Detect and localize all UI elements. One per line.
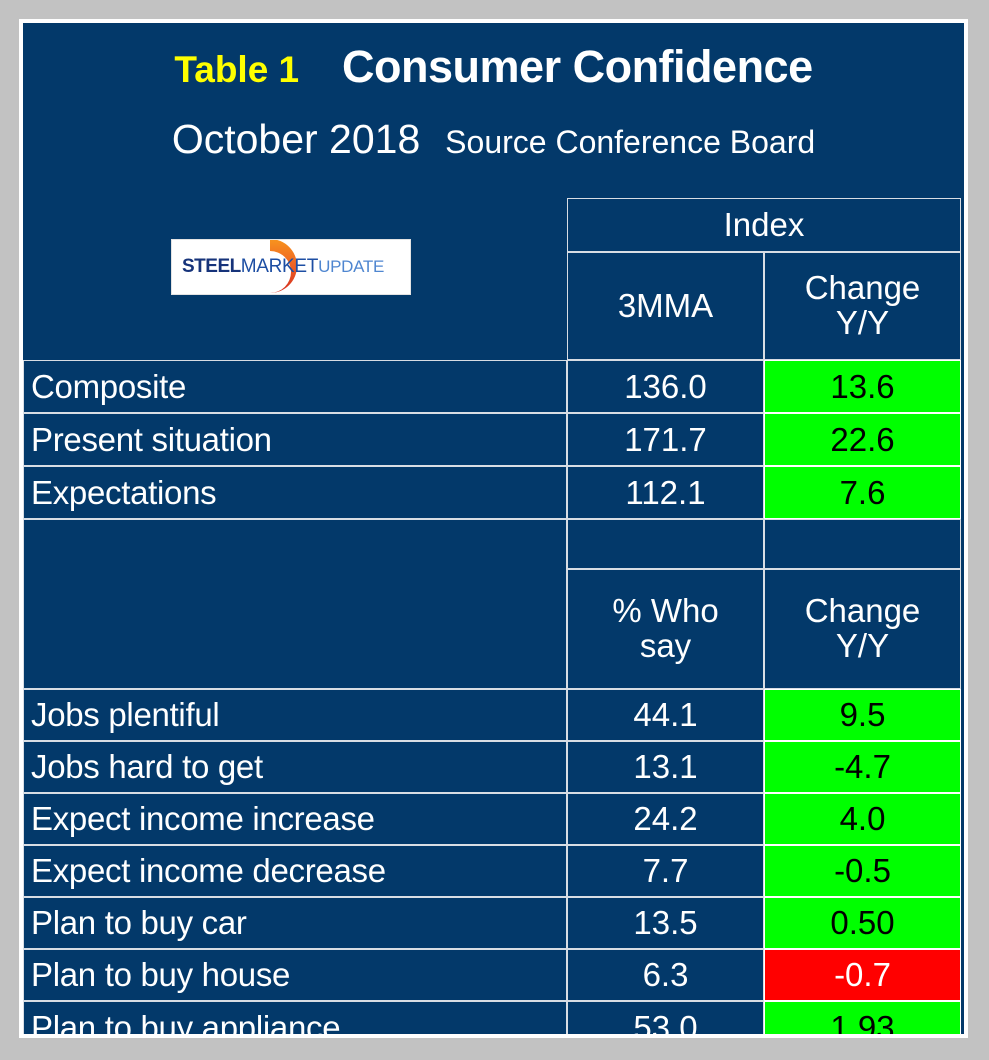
table-cell-change: -0.7 bbox=[764, 949, 961, 1001]
table-row-label: Plan to buy appliance bbox=[23, 1001, 567, 1034]
section-divider-left bbox=[23, 519, 567, 689]
table-row-label: Expect income decrease bbox=[23, 845, 567, 897]
data-grid: Index 3MMA Change Y/Y Composite 136.0 bbox=[23, 178, 964, 1034]
report-date-label: October 2018 bbox=[172, 116, 420, 162]
page-title: Consumer Confidence bbox=[342, 41, 813, 92]
table-row-label: Expect income increase bbox=[23, 793, 567, 845]
title-block: Table 1 Consumer Confidence October 2018… bbox=[23, 23, 964, 183]
table-cell-value: 171.7 bbox=[567, 413, 764, 466]
title-line-secondary: October 2018 Source Conference Board bbox=[23, 116, 964, 163]
table-cell-value: 53.0 bbox=[567, 1001, 764, 1034]
table-panel: Table 1 Consumer Confidence October 2018… bbox=[23, 23, 964, 1034]
table-row-label: Plan to buy car bbox=[23, 897, 567, 949]
table-cell-value: 136.0 bbox=[567, 360, 764, 413]
table-row-label: Expectations bbox=[23, 466, 567, 519]
table-cell-value: 24.2 bbox=[567, 793, 764, 845]
table-row-label: Composite bbox=[23, 360, 567, 413]
table-number-label: Table 1 bbox=[174, 49, 299, 90]
header-col-change-index: Change Y/Y bbox=[764, 252, 961, 360]
header-group-index: Index bbox=[567, 198, 961, 252]
table-row-label: Jobs hard to get bbox=[23, 741, 567, 793]
table-row-label: Jobs plentiful bbox=[23, 689, 567, 741]
header-col-change-percent: Change Y/Y bbox=[764, 569, 961, 689]
table-outer-frame: Table 1 Consumer Confidence October 2018… bbox=[19, 19, 968, 1038]
table-cell-value: 44.1 bbox=[567, 689, 764, 741]
table-cell-value: 7.7 bbox=[567, 845, 764, 897]
table-cell-value: 6.3 bbox=[567, 949, 764, 1001]
table-cell-value: 13.5 bbox=[567, 897, 764, 949]
screenshot-root: Table 1 Consumer Confidence October 2018… bbox=[0, 0, 989, 1060]
table-cell-change: 9.5 bbox=[764, 689, 961, 741]
section-divider-mid bbox=[567, 519, 764, 569]
header-col-3mma: 3MMA bbox=[567, 252, 764, 360]
section-divider-right bbox=[764, 519, 961, 569]
title-line-primary: Table 1 Consumer Confidence bbox=[23, 41, 964, 93]
table-cell-change: -0.5 bbox=[764, 845, 961, 897]
table-cell-change: -4.7 bbox=[764, 741, 961, 793]
table-cell-change: 0.50 bbox=[764, 897, 961, 949]
table-cell-value: 13.1 bbox=[567, 741, 764, 793]
table-cell-change: 13.6 bbox=[764, 360, 961, 413]
table-cell-change: 7.6 bbox=[764, 466, 961, 519]
table-row-label: Present situation bbox=[23, 413, 567, 466]
header-col-percent-who-say: % Who say bbox=[567, 569, 764, 689]
data-source-label: Source Conference Board bbox=[445, 124, 815, 160]
table-cell-value: 112.1 bbox=[567, 466, 764, 519]
table-cell-change: 4.0 bbox=[764, 793, 961, 845]
table-row-label: Plan to buy house bbox=[23, 949, 567, 1001]
table-cell-change: 1.93 bbox=[764, 1001, 961, 1034]
table-cell-change: 22.6 bbox=[764, 413, 961, 466]
